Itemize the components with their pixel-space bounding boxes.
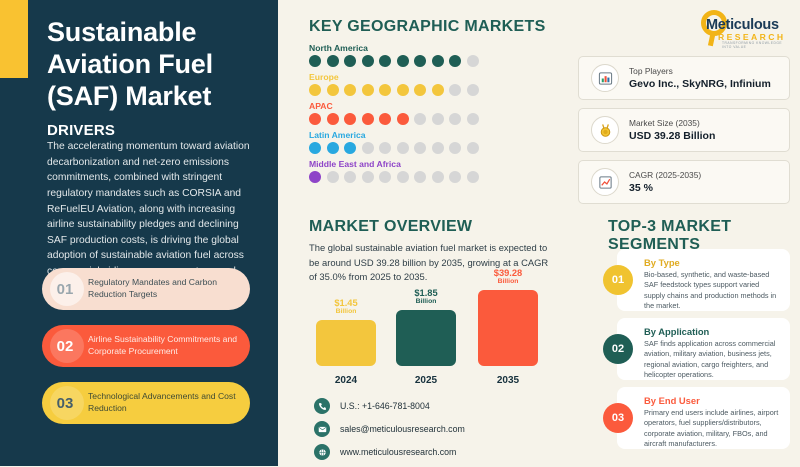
bar-value-label: $39.28Billion: [469, 268, 547, 286]
geo-dot: [309, 142, 321, 154]
geo-dot: [432, 113, 444, 125]
geo-dot: [327, 55, 339, 67]
geo-dot: [344, 142, 356, 154]
logo-name: Meticulous: [706, 17, 779, 33]
bar-unit-label: Billion: [387, 298, 465, 306]
geo-dot: [327, 84, 339, 96]
geo-dot: [397, 171, 409, 183]
geo-dot: [449, 113, 461, 125]
chart-bar: [396, 310, 456, 366]
geo-dot: [414, 84, 426, 96]
info-card-cagr[interactable]: CAGR (2025-2035) 35 %: [578, 160, 790, 204]
driver-card-03[interactable]: 03 Technological Advancements and Cost R…: [42, 382, 250, 424]
geo-dot: [432, 84, 444, 96]
geo-dot: [309, 84, 321, 96]
geo-dot: [379, 55, 391, 67]
bar-category-label: 2025: [396, 375, 456, 386]
geo-dot: [362, 113, 374, 125]
contact-text: U.S.: +1-646-781-8004: [340, 401, 430, 411]
driver-label: Technological Advancements and Cost Redu…: [88, 391, 250, 414]
contact-phone[interactable]: U.S.: +1-646-781-8004: [314, 398, 465, 414]
geo-dot: [449, 55, 461, 67]
drivers-heading: DRIVERS: [47, 122, 115, 139]
bar-unit-label: Billion: [307, 308, 385, 316]
geo-dot: [379, 113, 391, 125]
geo-dot: [449, 84, 461, 96]
chart-bar: [478, 290, 538, 366]
segment-description: Primary end users include airlines, airp…: [644, 408, 780, 449]
geo-dot: [467, 113, 479, 125]
geo-dot: [344, 113, 356, 125]
geo-region-label: North America: [309, 43, 519, 53]
info-card-label: Market Size (2035): [629, 118, 715, 128]
geo-region-label: Europe: [309, 72, 519, 82]
geo-dot: [309, 171, 321, 183]
geo-section-heading: KEY GEOGRAPHIC MARKETS: [309, 18, 546, 36]
driver-card-02[interactable]: 02 Airline Sustainability Commitments an…: [42, 325, 250, 367]
geo-dot: [449, 142, 461, 154]
geo-dot: [467, 171, 479, 183]
geo-dots: [309, 113, 519, 125]
driver-number-bubble: [50, 272, 84, 306]
driver-card-01[interactable]: 01 Regulatory Mandates and Carbon Reduct…: [42, 268, 250, 310]
geo-dot: [327, 171, 339, 183]
segment-title: By Application: [644, 326, 780, 337]
geo-dot: [449, 171, 461, 183]
info-card-top-players[interactable]: Top Players Gevo Inc., SkyNRG, Infinium: [578, 56, 790, 100]
geo-dots: [309, 55, 519, 67]
page-title: Sustainable Aviation Fuel (SAF) Market: [47, 17, 265, 113]
contact-block: U.S.: +1-646-781-8004 sales@meticulousre…: [314, 398, 465, 467]
segment-description: Bio-based, synthetic, and waste-based SA…: [644, 270, 780, 311]
geo-dot: [327, 142, 339, 154]
geo-dot: [414, 142, 426, 154]
segment-number-03: 03: [603, 403, 633, 433]
geo-dot: [362, 84, 374, 96]
contact-email[interactable]: sales@meticulousresearch.com: [314, 421, 465, 437]
geo-dot: [379, 171, 391, 183]
email-icon: [314, 421, 330, 437]
logo-tagline: TRANSFORMING KNOWLEDGE INTO VALUE: [722, 41, 792, 49]
geo-dot: [397, 84, 409, 96]
geo-dots: [309, 84, 519, 96]
left-panel: Sustainable Aviation Fuel (SAF) Market D…: [0, 0, 278, 466]
driver-number-bubble: [50, 386, 84, 420]
geo-dot: [362, 171, 374, 183]
geo-dots: [309, 142, 519, 154]
segment-title: By Type: [644, 257, 780, 268]
geo-region-row: Middle East and Africa: [309, 159, 519, 183]
geo-dot: [327, 113, 339, 125]
geo-dot: [467, 84, 479, 96]
geo-region-row: Europe: [309, 72, 519, 96]
brand-logo: Meticulous RESEARCH TRANSFORMING KNOWLED…: [692, 10, 792, 50]
info-card-label: Top Players: [629, 66, 771, 76]
globe-icon: [314, 444, 330, 460]
geo-region-label: APAC: [309, 101, 519, 111]
geo-dot: [362, 55, 374, 67]
bar-group: $1.45Billion2024: [316, 320, 376, 366]
yellow-accent-bar: [0, 0, 28, 78]
contact-text: www.meticulousresearch.com: [340, 447, 456, 457]
info-card-market-size[interactable]: Market Size (2035) USD 39.28 Billion: [578, 108, 790, 152]
geo-region-label: Latin America: [309, 130, 519, 140]
contact-text: sales@meticulousresearch.com: [340, 424, 465, 434]
bar-chart-icon: [591, 64, 619, 92]
geo-region-label: Middle East and Africa: [309, 159, 519, 169]
segment-number-01: 01: [603, 265, 633, 295]
geo-dot: [309, 55, 321, 67]
market-size-bar-chart: $1.45Billion2024$1.85Billion2025$39.28Bi…: [316, 290, 556, 388]
geo-region-row: Latin America: [309, 130, 519, 154]
geo-dot: [432, 142, 444, 154]
bar-value-label: $1.85Billion: [387, 288, 465, 306]
geo-dot: [414, 55, 426, 67]
medal-icon: [591, 116, 619, 144]
geo-region-row: North America: [309, 43, 519, 67]
driver-number-bubble: [50, 329, 84, 363]
geo-dot: [432, 171, 444, 183]
segment-number-02: 02: [603, 334, 633, 364]
geo-dot: [397, 142, 409, 154]
geo-dot: [397, 55, 409, 67]
bar-group: $39.28Billion2035: [478, 290, 538, 366]
geo-dot: [432, 55, 444, 67]
info-card-value: 35 %: [629, 182, 701, 194]
chart-bar: [316, 320, 376, 366]
segment-card-01[interactable]: By Type Bio-based, synthetic, and waste-…: [617, 249, 790, 311]
contact-website[interactable]: www.meticulousresearch.com: [314, 444, 465, 460]
geo-dot: [397, 113, 409, 125]
geo-dot: [309, 113, 321, 125]
segment-card-03[interactable]: By End User Primary end users include ai…: [617, 387, 790, 449]
geo-dot: [344, 55, 356, 67]
geo-dot: [414, 113, 426, 125]
bar-category-label: 2024: [316, 375, 376, 386]
bar-group: $1.85Billion2025: [396, 310, 456, 366]
geo-dot: [414, 171, 426, 183]
geo-region-row: APAC: [309, 101, 519, 125]
phone-icon: [314, 398, 330, 414]
info-card-value: USD 39.28 Billion: [629, 130, 715, 142]
geo-dot: [362, 142, 374, 154]
segment-card-02[interactable]: By Application SAF finds application acr…: [617, 318, 790, 380]
segment-title: By End User: [644, 395, 780, 406]
bar-unit-label: Billion: [469, 278, 547, 286]
geo-dot-matrix: North AmericaEuropeAPACLatin AmericaMidd…: [309, 43, 519, 188]
trend-chart-icon: [591, 168, 619, 196]
geo-dot: [344, 84, 356, 96]
info-card-value: Gevo Inc., SkyNRG, Infinium: [629, 78, 771, 90]
geo-dot: [379, 84, 391, 96]
geo-dot: [344, 171, 356, 183]
geo-dot: [467, 142, 479, 154]
geo-dot: [379, 142, 391, 154]
driver-label: Regulatory Mandates and Carbon Reduction…: [88, 277, 250, 300]
driver-label: Airline Sustainability Commitments and C…: [88, 334, 250, 357]
overview-section-heading: MARKET OVERVIEW: [309, 218, 472, 236]
geo-dot: [467, 55, 479, 67]
info-card-label: CAGR (2025-2035): [629, 170, 701, 180]
bar-category-label: 2035: [478, 375, 538, 386]
geo-dots: [309, 171, 519, 183]
segment-description: SAF finds application across commercial …: [644, 339, 780, 380]
bar-value-label: $1.45Billion: [307, 298, 385, 316]
